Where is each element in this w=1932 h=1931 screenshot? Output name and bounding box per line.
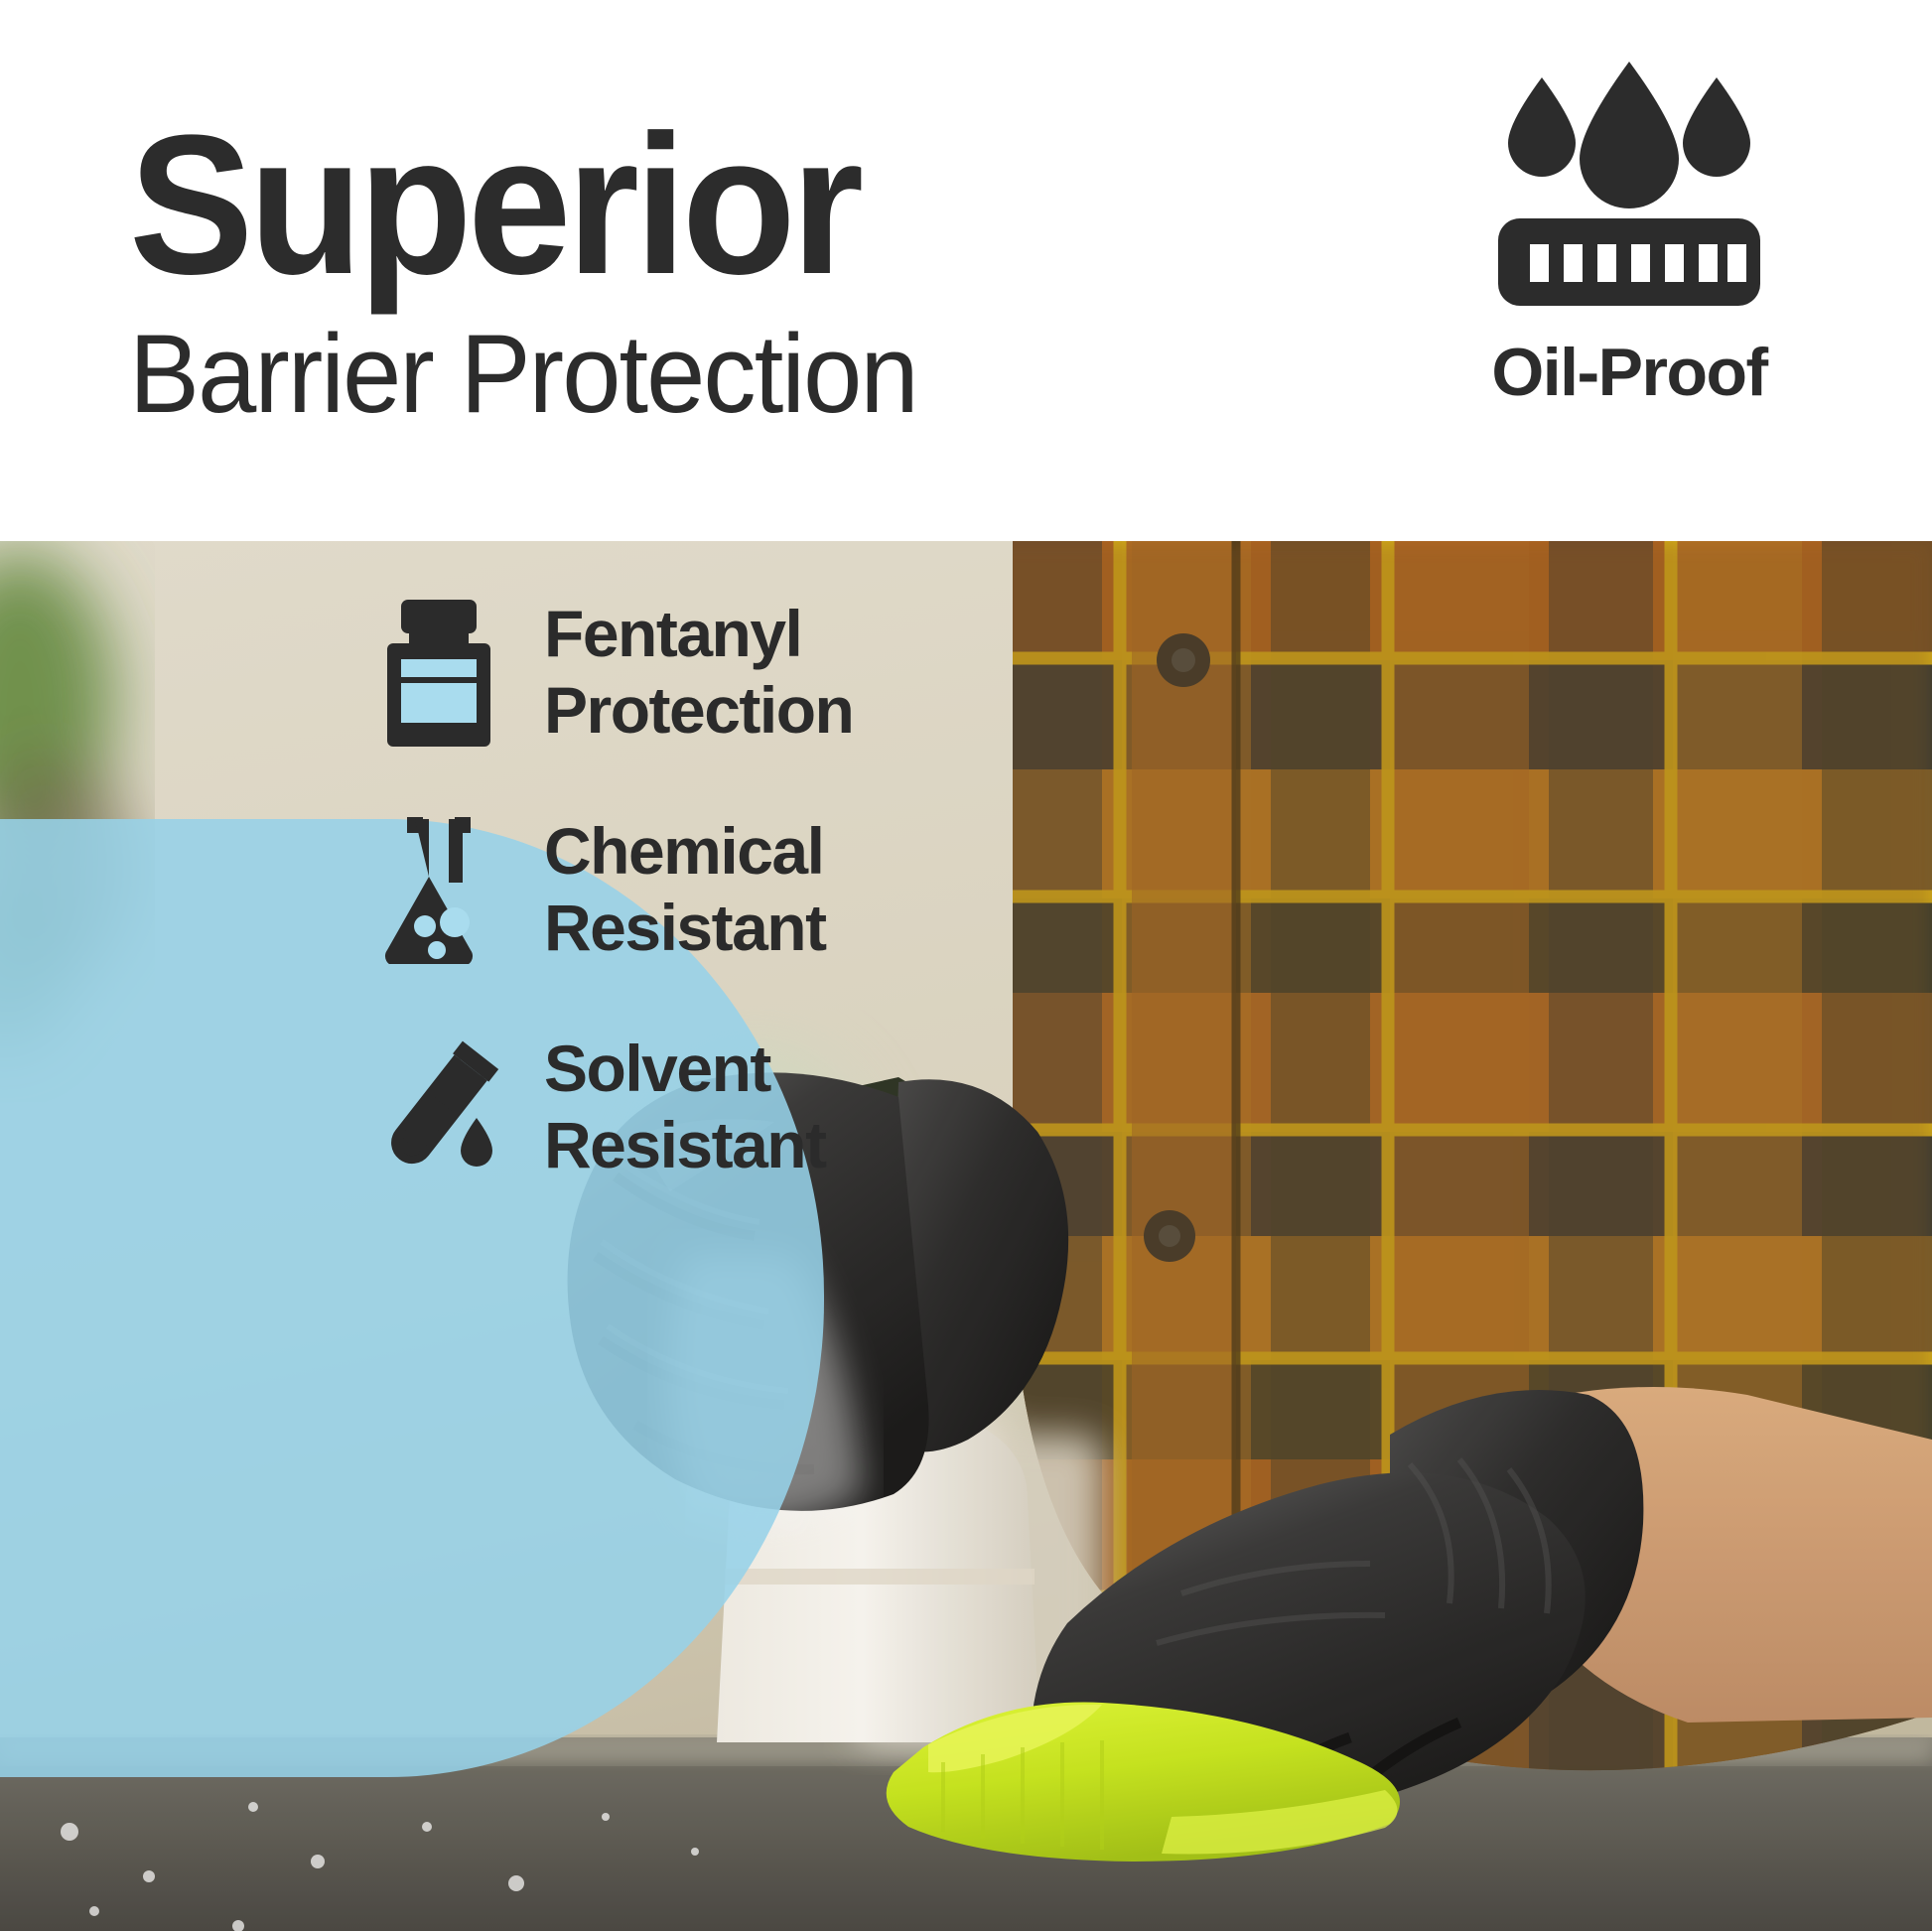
feature-list: Fentanyl Protection Chem [377, 596, 853, 1182]
feature-item-fentanyl-protection: Fentanyl Protection [377, 596, 853, 748]
vial-icon [377, 598, 500, 747]
page-title: Superior Barrier Protection [129, 109, 1301, 433]
feature-label: Fentanyl Protection [544, 596, 853, 748]
badge-label: Oil-Proof [1491, 334, 1766, 411]
marketing-poster: Fentanyl Protection Chem [0, 0, 1932, 1931]
feature-label: Solvent Resistant [544, 1031, 826, 1182]
erlenmeyer-flask-icon [377, 815, 500, 964]
feature-label: Chemical Resistant [544, 813, 826, 965]
title-main: Superior [129, 109, 1230, 302]
header-band: Superior Barrier Protection [0, 0, 1932, 541]
oil-proof-badge: Oil-Proof [1416, 60, 1843, 411]
feature-item-solvent-resistant: Solvent Resistant [377, 1031, 853, 1182]
product-photo: Fentanyl Protection Chem [0, 541, 1932, 1931]
test-tube-drop-icon [377, 1033, 500, 1181]
title-subtitle: Barrier Protection [129, 316, 1242, 433]
feature-item-chemical-resistant: Chemical Resistant [377, 813, 853, 965]
oil-droplets-barrier-icon [1480, 60, 1778, 308]
